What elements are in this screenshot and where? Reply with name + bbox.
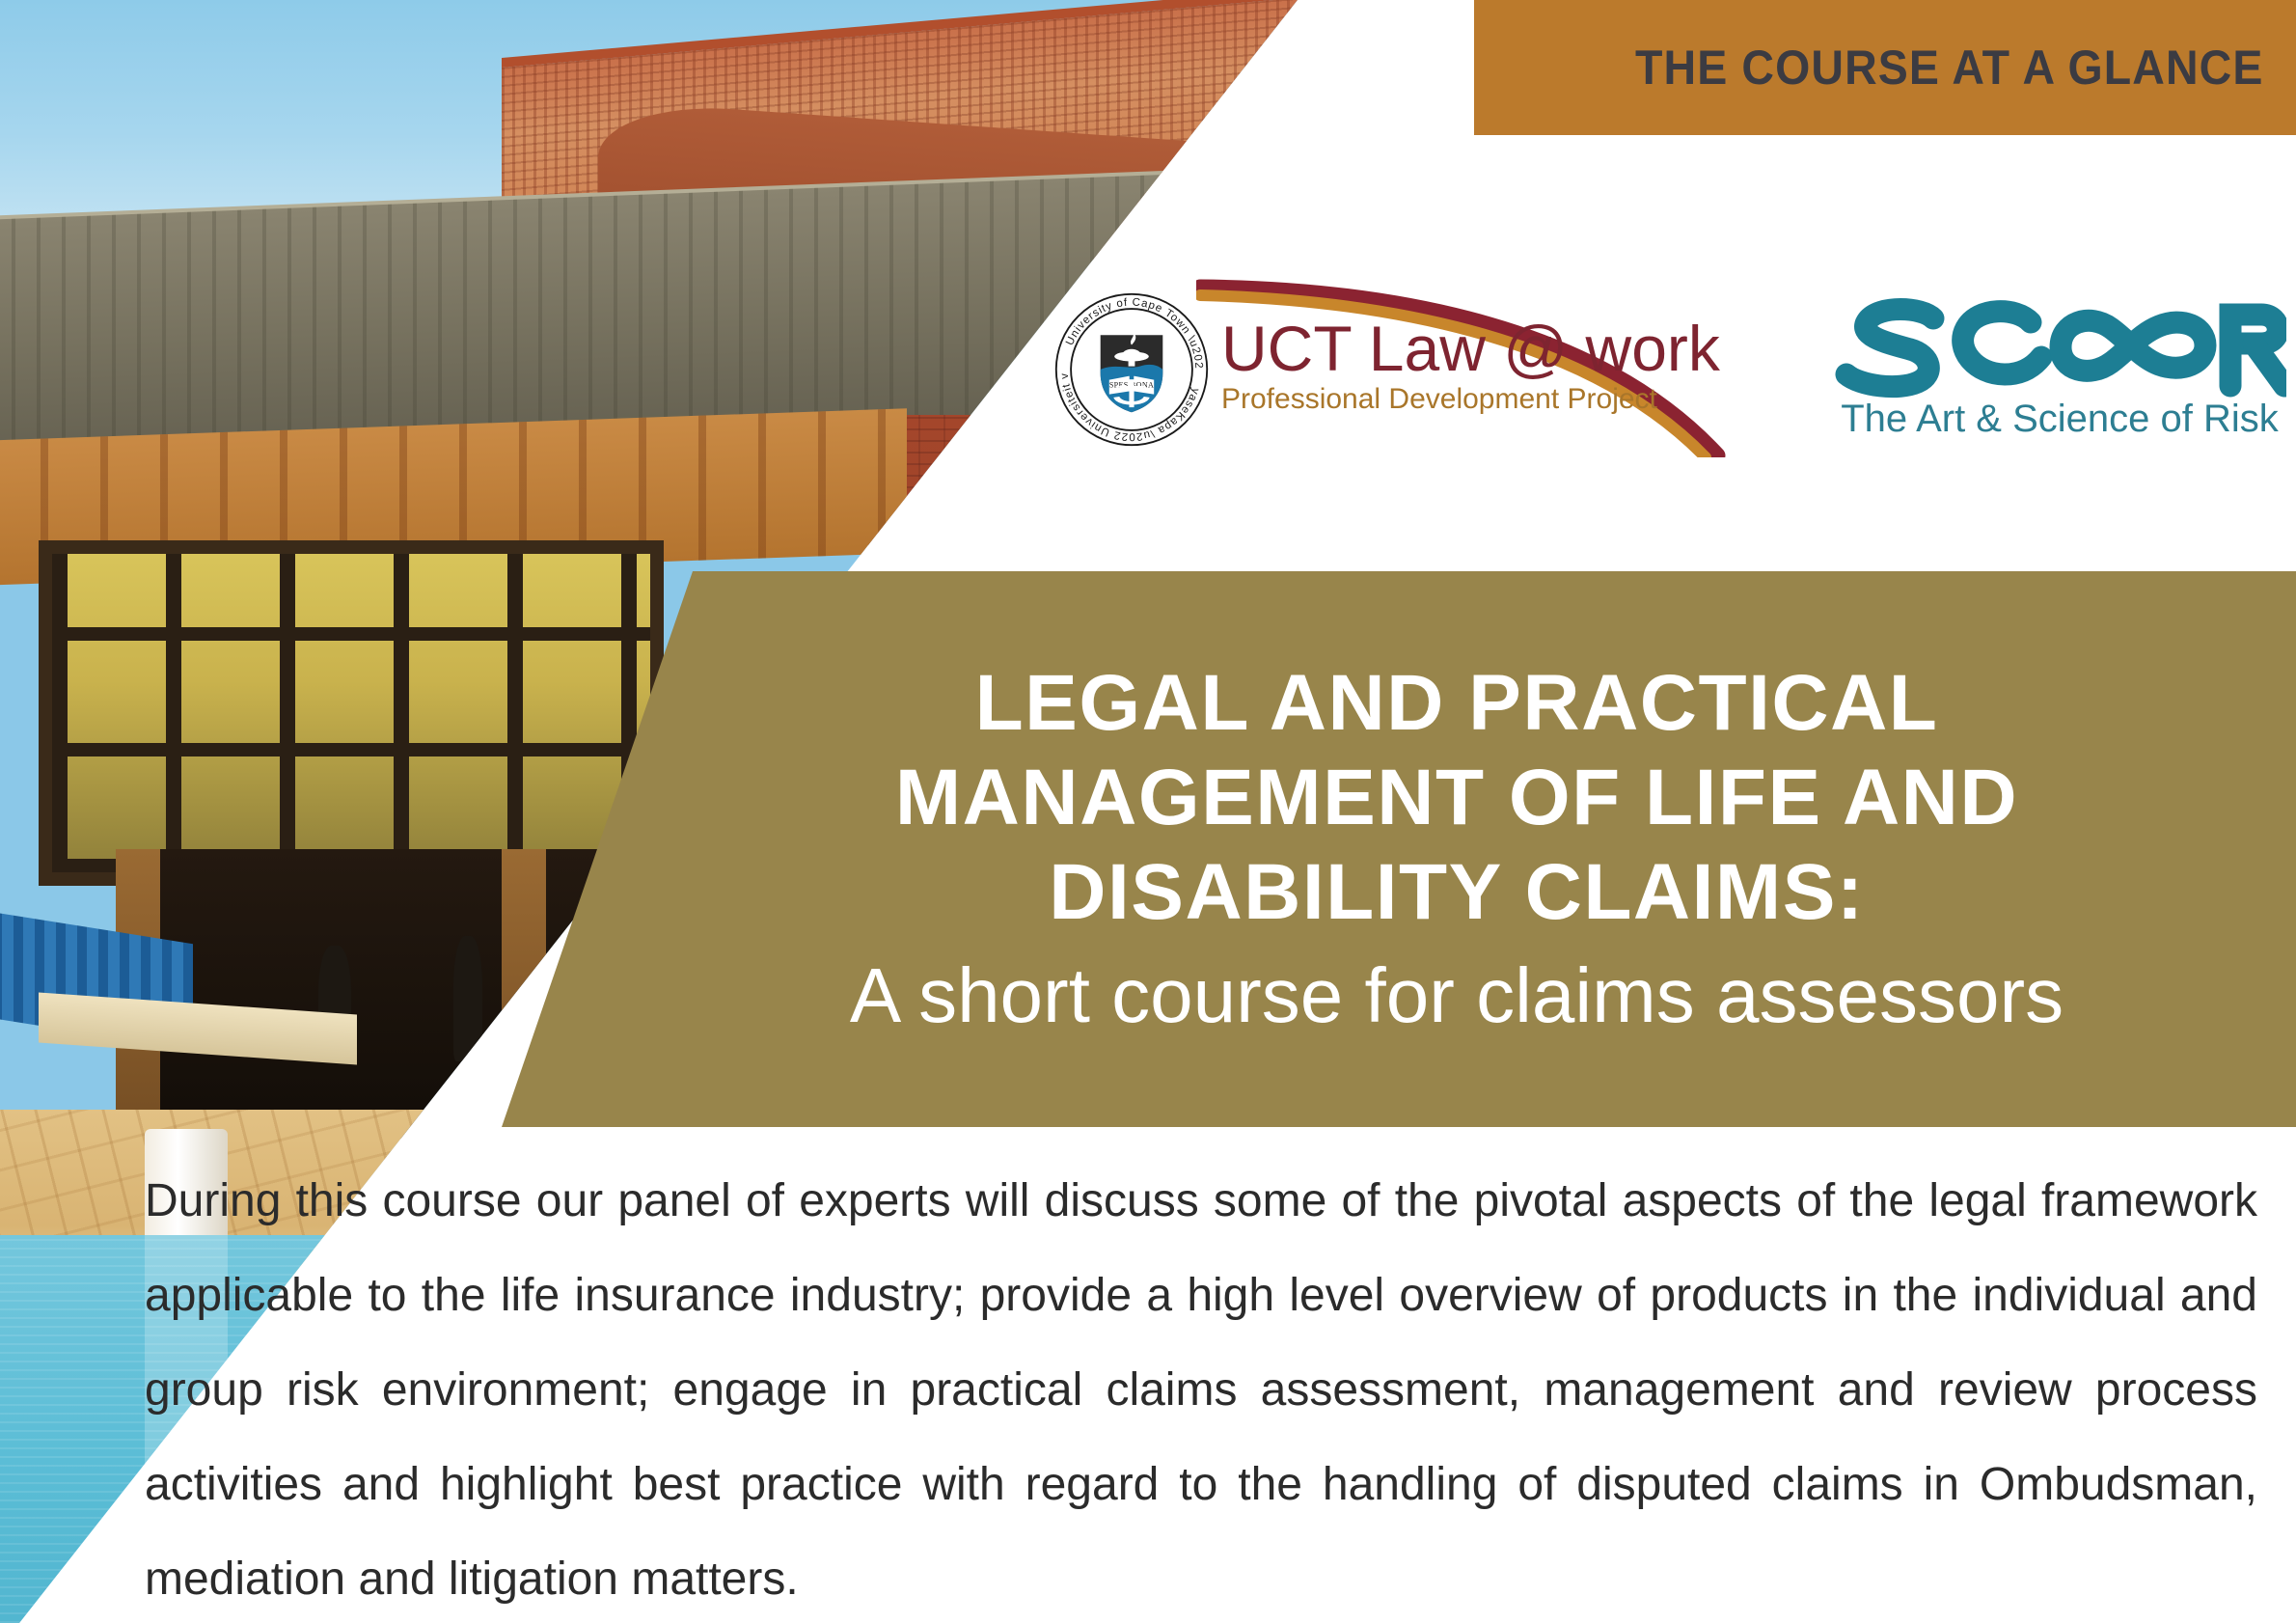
uct-wordmark: UCT Law @ work Professional Development … [1221,316,1720,416]
uct-law-at-work-logo[interactable]: University of Cape Town \u2022 iYunivesi… [1042,280,1717,473]
photo-window-bank [39,540,664,886]
header-banner-label: THE COURSE AT A GLANCE [1635,40,2263,96]
uct-wordmark-main: UCT Law @ work [1221,316,1720,381]
uct-wordmark-tagline: Professional Development Project [1221,383,1720,416]
uct-seal-icon: University of Cape Town \u2022 iYunivesi… [1050,288,1214,452]
title-text-block: LEGAL AND PRACTICAL MANAGEMENT OF LIFE A… [666,571,2248,1127]
course-description-paragraph: During this course our panel of experts … [145,1154,2257,1623]
course-subtitle: A short course for claims assessors [850,949,2064,1043]
course-title-line-2: MANAGEMENT OF LIFE AND [895,751,2018,845]
poster-canvas: THE COURSE AT A GLANCE University of Cap… [0,0,2296,1623]
course-title-line-3: DISABILITY CLAIMS: [1049,845,1864,940]
header-banner: THE COURSE AT A GLANCE [1474,0,2296,135]
scor-tagline: The Art & Science of Risk [1833,398,2286,441]
logo-row: University of Cape Town \u2022 iYunivesi… [1042,280,2286,482]
scor-wordmark-icon [1833,293,2286,401]
course-title-line-1: LEGAL AND PRACTICAL [975,656,1939,751]
course-description-block: During this course our panel of experts … [0,1154,2296,1608]
scor-logo[interactable]: The Art & Science of Risk [1833,293,2286,457]
photo-person [453,936,482,1061]
